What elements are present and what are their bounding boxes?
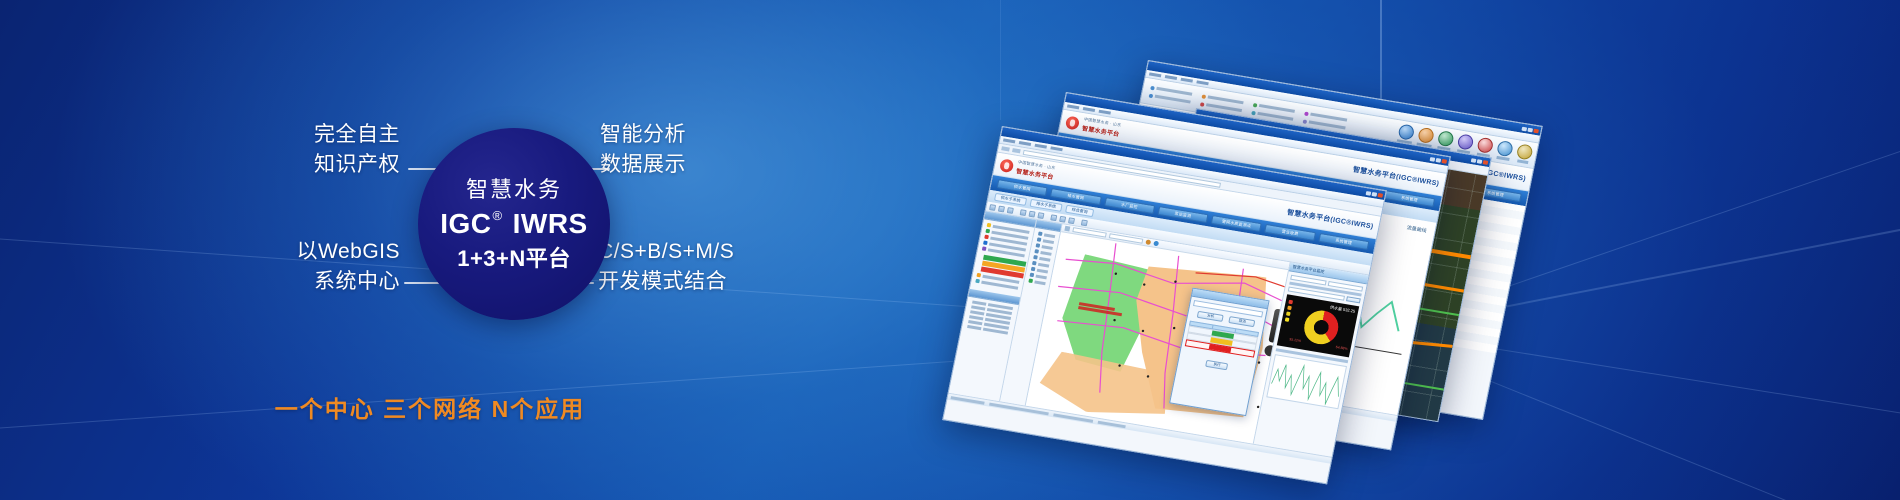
feature-bottom-right-line1: C/S+B/S+M/S <box>598 237 828 267</box>
menu-view[interactable] <box>1099 110 1111 115</box>
menu-edit[interactable] <box>1019 141 1031 146</box>
legend-swatch-2 <box>1286 311 1291 316</box>
close-icon[interactable] <box>1441 159 1447 164</box>
feature-top-right-line2: 数据展示 <box>600 150 800 180</box>
center-badge: 智慧水务 IGC ® IWRS 1+3+N平台 <box>418 128 610 320</box>
feature-top-left-line2: 知识产权 <box>240 150 400 180</box>
legend-swatch-3 <box>1285 317 1290 322</box>
minimize-icon[interactable] <box>1522 126 1528 131</box>
maximize-icon[interactable] <box>1436 158 1442 163</box>
donut-reading-label: 供水量 <box>1330 305 1343 312</box>
registered-mark-icon: ® <box>493 209 503 222</box>
donut-label-left: 35.12% <box>1289 337 1302 343</box>
layers-icon[interactable] <box>1081 219 1088 226</box>
zoom-in-icon[interactable] <box>1020 209 1027 216</box>
ribbon-icon-settings[interactable] <box>1515 143 1534 164</box>
legend-swatch-0 <box>1288 300 1293 305</box>
tagline: 一个中心 三个网络 N个应用 <box>0 390 860 424</box>
dialog-analyze-button[interactable]: 分析 <box>1197 311 1224 322</box>
close-icon[interactable] <box>1377 193 1383 198</box>
menu-view[interactable] <box>1181 78 1193 83</box>
feature-top-left-line1: 完全自主 <box>240 120 400 150</box>
map-canvas[interactable]: 分析 取消 <box>1026 224 1290 443</box>
donut-reading-value: 532.25 <box>1343 307 1356 314</box>
feature-bottom-left-line1: 以WebGIS <box>220 237 400 267</box>
badge-iwrs: IWRS <box>513 210 588 238</box>
print-icon[interactable] <box>1007 207 1014 214</box>
properties-panel <box>962 297 1019 339</box>
menu-edit[interactable] <box>1165 75 1177 80</box>
maximize-icon[interactable] <box>1527 127 1533 132</box>
menu-file[interactable] <box>1067 104 1079 109</box>
badge-title-cn: 智慧水务 <box>466 179 562 201</box>
supply-donut-chart: 供水量 532.25 35.12% 64.88% <box>1277 294 1359 357</box>
feature-bottom-right: C/S+B/S+M/S 开发模式结合 <box>598 237 828 297</box>
mini-flow-chart <box>1266 354 1347 409</box>
maximize-icon[interactable] <box>1372 192 1378 197</box>
minimize-icon[interactable] <box>1471 158 1477 163</box>
maximize-icon[interactable] <box>1477 159 1483 164</box>
dialog-cancel-button[interactable]: 取消 <box>1229 316 1256 327</box>
feature-bottom-left-line2: 系统中心 <box>220 267 400 297</box>
close-icon[interactable] <box>1483 160 1489 165</box>
save-icon[interactable] <box>998 205 1005 212</box>
monitor-query-button[interactable] <box>1346 296 1361 303</box>
open-icon[interactable] <box>989 204 996 211</box>
close-icon[interactable] <box>1533 128 1539 133</box>
feature-top-right-line1: 智能分析 <box>600 120 800 150</box>
hero-banner: 完全自主 知识产权 智能分析 数据展示 以WebGIS 系统中心 C/S+B/S… <box>0 0 1900 500</box>
feature-top-left: 完全自主 知识产权 <box>240 120 400 180</box>
feature-bottom-right-line2: 开发模式结合 <box>598 267 828 297</box>
zoom-out-icon[interactable] <box>1029 210 1036 217</box>
badge-igc: IGC <box>440 210 491 238</box>
pan-icon[interactable] <box>1037 212 1044 219</box>
menu-edit[interactable] <box>1083 107 1095 112</box>
dialog-execute-button[interactable]: 执行 <box>1206 360 1229 370</box>
minimize-icon[interactable] <box>1430 157 1436 162</box>
feature-bottom-left: 以WebGIS 系统中心 <box>220 237 400 297</box>
donut-label-right: 64.88% <box>1335 345 1348 351</box>
water-drop-logo-icon <box>1065 115 1080 130</box>
menu-file[interactable] <box>1003 138 1015 143</box>
ribbon-icon-reports[interactable] <box>1495 140 1514 161</box>
badge-platform: 1+3+N平台 <box>457 248 571 270</box>
menu-view[interactable] <box>1035 144 1047 149</box>
grid-line-left-vertical <box>1000 0 1001 120</box>
legend-swatch-1 <box>1287 306 1292 311</box>
water-drop-logo-icon <box>999 158 1014 173</box>
identify-icon[interactable] <box>1068 217 1075 224</box>
menu-file[interactable] <box>1149 72 1161 77</box>
select-icon[interactable] <box>1050 214 1057 221</box>
minimize-icon[interactable] <box>1366 191 1372 196</box>
menu-tools[interactable] <box>1050 146 1062 151</box>
menu-tools[interactable] <box>1196 80 1208 85</box>
measure-icon[interactable] <box>1059 215 1066 222</box>
app-window-main[interactable]: 中国智慧水务 · 山东 智慧水务平台 智慧水务平台(IGC®IWRS) 供水管网… <box>942 126 1387 484</box>
feature-top-right: 智能分析 数据展示 <box>600 120 800 180</box>
badge-title-en: IGC ® IWRS <box>440 210 587 238</box>
